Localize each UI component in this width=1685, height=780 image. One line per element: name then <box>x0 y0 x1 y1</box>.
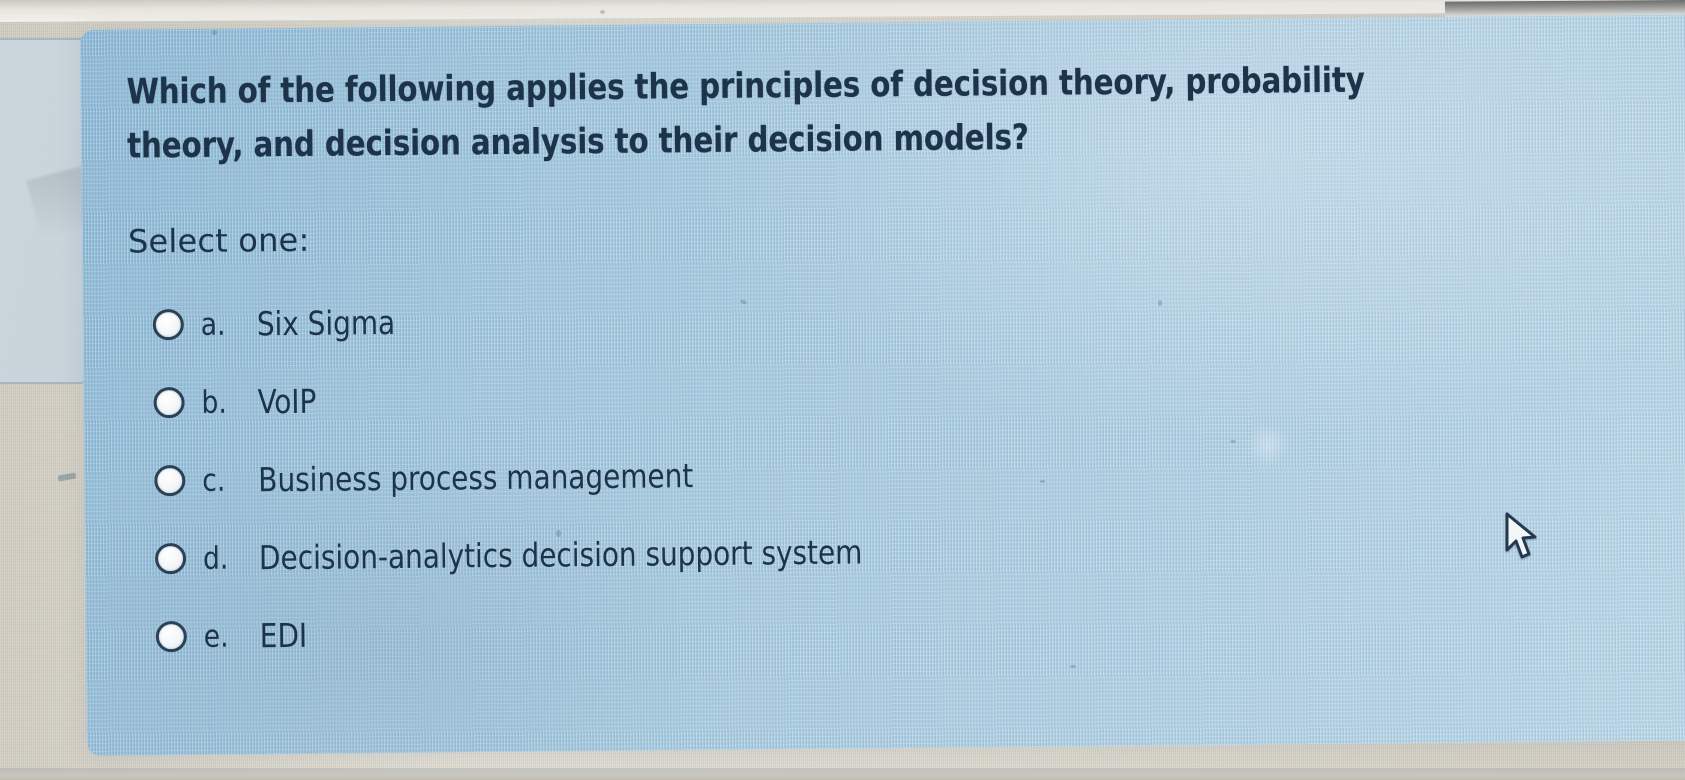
option-letter-d: d. <box>203 540 257 577</box>
answer-options-list: a. Six Sigma b. VoIP c. Business process… <box>128 271 1685 676</box>
radio-button-c[interactable] <box>154 465 185 496</box>
answer-option-b[interactable]: b. VoIP <box>153 349 1685 442</box>
answer-option-d[interactable]: d. Decision-analytics decision support s… <box>155 505 1685 598</box>
select-one-label: Select one: <box>128 207 1685 260</box>
background-side-panel <box>0 38 86 384</box>
radio-button-b[interactable] <box>153 387 184 418</box>
radio-button-a[interactable] <box>153 309 184 340</box>
option-label-d: Decision-analytics decision support syst… <box>259 533 863 578</box>
answer-option-a[interactable]: a. Six Sigma <box>152 271 1685 364</box>
screen-bottom-edge <box>0 768 1685 780</box>
option-letter-a: a. <box>201 306 255 343</box>
option-label-e: EDI <box>260 616 308 655</box>
option-letter-e: e. <box>204 618 258 655</box>
screenshot-root: Which of the following applies the princ… <box>0 0 1685 780</box>
quiz-question-card: Which of the following applies the princ… <box>80 14 1685 756</box>
answer-option-e[interactable]: e. EDI <box>155 583 1685 676</box>
option-letter-c: c. <box>202 462 256 499</box>
question-text: Which of the following applies the princ… <box>126 53 1448 174</box>
option-label-c: Business process management <box>258 456 693 499</box>
radio-button-e[interactable] <box>156 621 187 652</box>
option-label-a: Six Sigma <box>257 303 396 343</box>
radio-button-d[interactable] <box>155 543 186 574</box>
mouse-cursor-icon <box>1505 512 1539 562</box>
option-label-b: VoIP <box>257 382 316 422</box>
option-letter-b: b. <box>201 384 255 421</box>
answer-option-c[interactable]: c. Business process management <box>154 427 1685 520</box>
